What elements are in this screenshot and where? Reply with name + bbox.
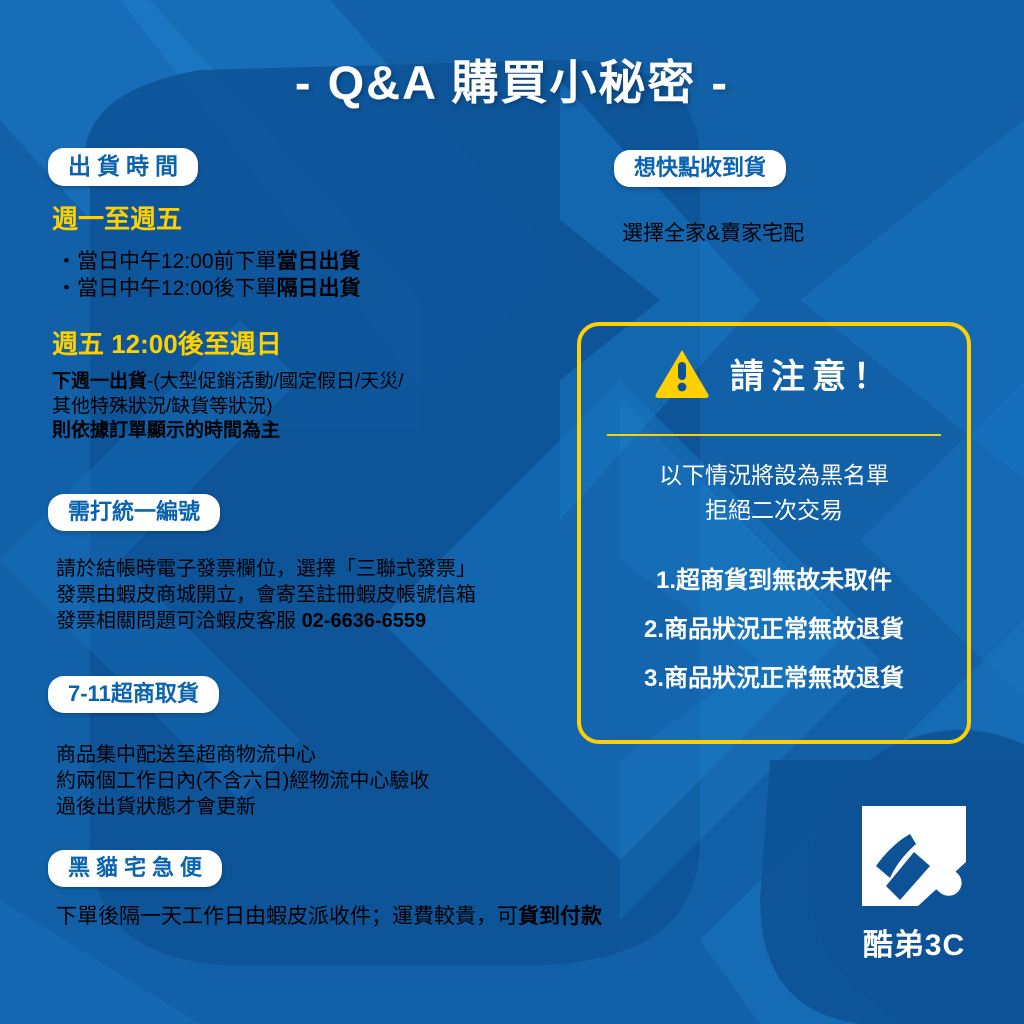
shipping-weekday-lines: ・當日中午12:00前下單當日出貨 ・當日中午12:00後下單隔日出貨 [56, 248, 361, 303]
warning-item-list: 1.超商貨到無故未取件 2.商品狀況正常無故退貨 3.商品狀況正常無故退貨 [581, 556, 967, 704]
tax-line-1-plain: 請於結帳時電子發票欄位，選擇「三聯式發票」 [56, 558, 476, 580]
friday-note-3-prefix: 則 [52, 420, 71, 441]
friday-note-3-bold: 依據訂單顯示的時間為主 [71, 420, 280, 441]
seven-eleven-line-3: 過後出貨狀態才會更新 [56, 794, 429, 820]
tax-line-3: 發票相關問題可洽蝦皮客服 02-6636-6559 [56, 608, 476, 634]
warning-subtitle-line-2: 拒絕二次交易 [581, 493, 967, 528]
warning-header: 請注意！ [581, 348, 967, 398]
friday-note-1-bold: 下週一出貨 [52, 371, 147, 392]
seven-eleven-line-1: 商品集中配送至超商物流中心 [56, 742, 429, 768]
tax-line-2-plain: 發票由蝦皮商城開立，會寄至註冊蝦皮帳號信箱 [56, 584, 476, 606]
warning-item: 1.超商貨到無故未取件 [581, 556, 967, 605]
section-label-black-cat: 黑貓宅急便 [48, 850, 222, 887]
pill-seven-eleven: 7-11超商取貨 [48, 676, 219, 713]
tax-line-1: 請於結帳時電子發票欄位，選擇「三聯式發票」 [56, 556, 476, 582]
shipping-line-2: ・當日中午12:00後下單隔日出貨 [56, 275, 361, 302]
fast-delivery-line: 選擇全家&賣家宅配 [622, 220, 804, 247]
pill-fast-delivery: 想快點收到貨 [614, 150, 786, 187]
warning-subtitle-line-1: 以下情況將設為黑名單 [581, 458, 967, 493]
shipping-line-2-bold: 隔日出貨 [277, 277, 361, 300]
warning-title: 請注意！ [726, 349, 894, 398]
tax-id-lines: 請於結帳時電子發票欄位，選擇「三聯式發票」 發票由蝦皮商城開立，會寄至註冊蝦皮帳… [56, 556, 476, 634]
section-label-fast-delivery: 想快點收到貨 [614, 150, 786, 187]
shipping-weekday-heading: 週一至週五 [52, 203, 182, 237]
shipping-friday-heading: 週五 12:00後至週日 [52, 328, 282, 362]
seven-eleven-lines: 商品集中配送至超商物流中心 約兩個工作日內(不含六日)經物流中心驗收 過後出貨狀… [56, 742, 429, 820]
shipping-line-1-plain: 當日中午12:00前下單 [77, 250, 277, 273]
shipping-friday-note: 下週一出貨-(大型促銷活動/國定假日/天災/ 其他特殊狀況/缺貨等狀況) 則依據… [52, 370, 404, 444]
tax-line-3-plain: 發票相關問題可洽蝦皮客服 [56, 610, 302, 632]
section-label-shipping-time: 出貨時間 [48, 148, 198, 186]
black-cat-plain: 下單後隔一天工作日由蝦皮派收件；運費較貴，可 [56, 905, 518, 928]
warning-box: 請注意！ 以下情況將設為黑名單 拒絕二次交易 1.超商貨到無故未取件 2.商品狀… [577, 322, 971, 744]
section-label-tax-id: 需打統一編號 [48, 494, 220, 531]
pill-tax-id: 需打統一編號 [48, 494, 220, 531]
shipping-line-1: ・當日中午12:00前下單當日出貨 [56, 248, 361, 275]
black-cat-bold: 貨到付款 [518, 905, 602, 928]
black-cat-line: 下單後隔一天工作日由蝦皮派收件；運費較貴，可貨到付款 [56, 903, 602, 930]
warning-item: 2.商品狀況正常無故退貨 [581, 605, 967, 654]
friday-note-line-3: 則依據訂單顯示的時間為主 [52, 419, 404, 444]
warning-item: 3.商品狀況正常無故退貨 [581, 654, 967, 703]
brand-logo: 酷弟3C [846, 800, 982, 964]
brand-name: 酷弟3C [846, 920, 982, 964]
shopee-service-phone: 02-6636-6559 [302, 610, 427, 632]
bullet-icon: ・ [56, 250, 77, 273]
section-label-seven-eleven: 7-11超商取貨 [48, 676, 219, 713]
shipping-line-1-bold: 當日出貨 [277, 250, 361, 273]
friday-note-2-plain: 其他特殊狀況/缺貨等狀況) [52, 396, 273, 417]
pill-shipping-time: 出貨時間 [48, 148, 198, 186]
pill-black-cat: 黑貓宅急便 [48, 850, 222, 887]
friday-note-line-2: 其他特殊狀況/缺貨等狀況) [52, 395, 404, 420]
warning-divider [607, 434, 941, 436]
friday-note-1-plain: -(大型促銷活動/國定假日/天災/ [147, 371, 404, 392]
warning-triangle-icon [654, 348, 710, 398]
friday-note-line-1: 下週一出貨-(大型促銷活動/國定假日/天災/ [52, 370, 404, 395]
bullet-icon: ・ [56, 277, 77, 300]
tax-line-2: 發票由蝦皮商城開立，會寄至註冊蝦皮帳號信箱 [56, 582, 476, 608]
plug-device-logo-icon [856, 800, 972, 912]
page-title: - Q&A 購買小秘密 - [0, 44, 1024, 113]
seven-eleven-line-2: 約兩個工作日內(不含六日)經物流中心驗收 [56, 768, 429, 794]
warning-subtitle: 以下情況將設為黑名單 拒絕二次交易 [581, 458, 967, 527]
shipping-line-2-plain: 當日中午12:00後下單 [77, 277, 277, 300]
poster-canvas: - Q&A 購買小秘密 - 出貨時間 週一至週五 ・當日中午12:00前下單當日… [0, 0, 1024, 1024]
